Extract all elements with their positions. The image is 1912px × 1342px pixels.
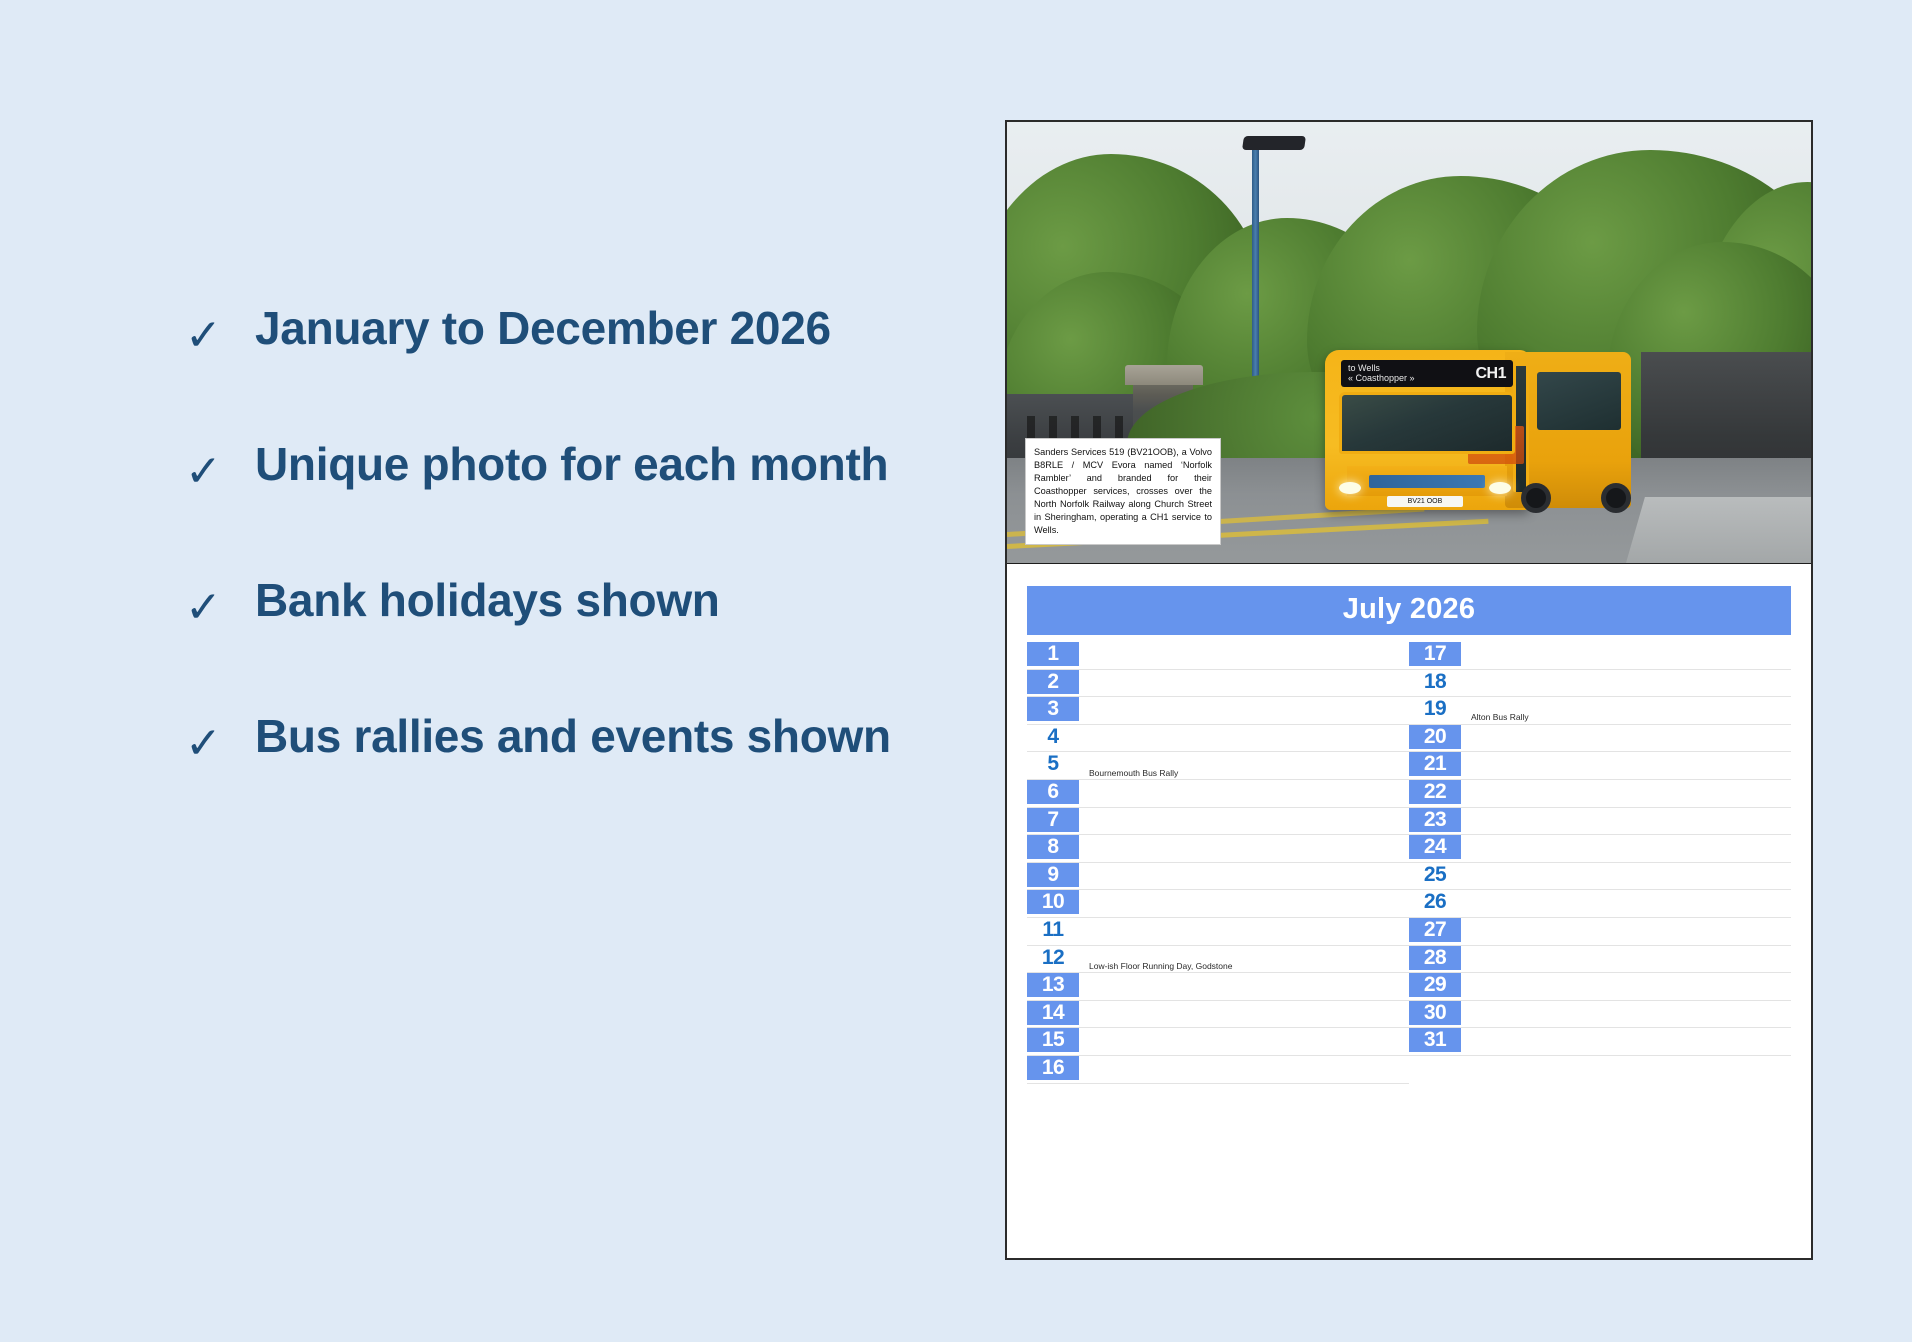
calendar-day-event (1461, 833, 1791, 834)
calendar-month-title: July 2026 (1027, 586, 1791, 635)
bus-headlight-left-icon (1339, 482, 1361, 494)
calendar-day-event (1461, 806, 1791, 807)
calendar-day-row[interactable]: 9 (1027, 863, 1409, 891)
calendar-day-event (1461, 1054, 1791, 1055)
calendar-day-event (1461, 916, 1791, 917)
calendar-day-number: 16 (1027, 1056, 1079, 1080)
calendar-day-row[interactable]: 14 (1027, 1001, 1409, 1029)
pavement-kerb (1626, 497, 1811, 563)
calendar-day-event (1079, 833, 1409, 834)
calendar-day-number: 24 (1409, 835, 1461, 859)
feature-item-2: ✓ Bank holidays shown (185, 572, 905, 630)
calendar-day-row[interactable]: 25 (1409, 863, 1791, 891)
month-photo: to Wells « Coasthopper » CH1 BV21 OOB Sa… (1007, 122, 1811, 564)
calendar-day-row[interactable]: 31 (1409, 1028, 1791, 1056)
calendar-day-number: 8 (1027, 835, 1079, 859)
calendar-day-row[interactable]: 17 (1409, 642, 1791, 670)
calendar-day-number: 22 (1409, 780, 1461, 804)
calendar-day-row[interactable]: 10 (1027, 890, 1409, 918)
calendar-day-number: 28 (1409, 946, 1461, 970)
calendar-day-row[interactable]: 28 (1409, 946, 1791, 974)
calendar-day-number: 21 (1409, 752, 1461, 776)
calendar-day-number: 7 (1027, 808, 1079, 832)
feature-label-1: Unique photo for each month (255, 436, 905, 492)
calendar-day-row[interactable]: 16 (1027, 1056, 1409, 1084)
calendar-day-event (1079, 944, 1409, 945)
calendar-day-row[interactable]: 24 (1409, 835, 1791, 863)
calendar-day-number: 27 (1409, 918, 1461, 942)
calendar-day-event (1079, 1026, 1409, 1027)
calendar-day-number: 12 (1027, 946, 1079, 970)
calendar-day-row[interactable]: 18 (1409, 670, 1791, 698)
bus-operator-logo (1369, 475, 1485, 488)
calendar-day-event (1079, 861, 1409, 862)
calendar-day-event (1079, 888, 1409, 889)
calendar-day-number: 29 (1409, 973, 1461, 997)
bus-windscreen (1339, 392, 1515, 454)
calendar-day-row[interactable]: 30 (1409, 1001, 1791, 1029)
calendar-day-number: 1 (1027, 642, 1079, 666)
feature-item-1: ✓ Unique photo for each month (185, 436, 905, 494)
calendar-day-event (1461, 695, 1791, 696)
calendar-day-row[interactable]: 2 (1027, 670, 1409, 698)
calendar-day-row[interactable]: 12Low-ish Floor Running Day, Godstone (1027, 946, 1409, 974)
bus-route-number: CH1 (1475, 365, 1506, 383)
bus-vehicle: to Wells « Coasthopper » CH1 BV21 OOB (1325, 350, 1530, 510)
calendar-day-number: 13 (1027, 973, 1079, 997)
bus-side-window (1537, 372, 1621, 430)
calendar-day-event (1079, 916, 1409, 917)
calendar-day-row[interactable]: 26 (1409, 890, 1791, 918)
feature-label-3: Bus rallies and events shown (255, 708, 905, 764)
calendar-day-row[interactable]: 15 (1027, 1028, 1409, 1056)
feature-list: ✓ January to December 2026 ✓ Unique phot… (185, 300, 905, 844)
calendar-day-event (1079, 1054, 1409, 1055)
calendar-day-row[interactable]: 21 (1409, 752, 1791, 780)
calendar-day-number: 6 (1027, 780, 1079, 804)
calendar-day-event (1079, 999, 1409, 1000)
bus-destination-line2: « Coasthopper » (1348, 374, 1415, 383)
calendar-day-event: Alton Bus Rally (1461, 713, 1791, 723)
calendar-day-number: 11 (1027, 918, 1079, 942)
calendar-day-event: Low-ish Floor Running Day, Godstone (1079, 962, 1409, 972)
calendar-day-number: 5 (1027, 752, 1079, 776)
calendar-day-event (1461, 888, 1791, 889)
calendar-day-row[interactable]: 8 (1027, 835, 1409, 863)
calendar-day-number: 3 (1027, 697, 1079, 721)
bus-wheel (1521, 483, 1551, 513)
bridge-pillar-cap (1125, 365, 1203, 385)
calendar-day-number: 25 (1409, 863, 1461, 887)
calendar-day-row[interactable]: 7 (1027, 808, 1409, 836)
calendar-day-number: 23 (1409, 808, 1461, 832)
calendar-day-row[interactable]: 20 (1409, 725, 1791, 753)
bus-headlight-right-icon (1489, 482, 1511, 494)
calendar-day-number: 14 (1027, 1001, 1079, 1025)
calendar-day-event (1461, 668, 1791, 669)
calendar-day-number: 4 (1027, 725, 1079, 749)
calendar-day-row[interactable]: 22 (1409, 780, 1791, 808)
calendar-grid: July 2026 12345Bournemouth Bus Rally6789… (1007, 564, 1811, 1258)
photo-caption: Sanders Services 519 (BV21OOB), a Volvo … (1025, 438, 1221, 545)
calendar-left-column: 12345Bournemouth Bus Rally6789101112Low-… (1027, 642, 1409, 1244)
calendar-day-number: 2 (1027, 670, 1079, 694)
feature-label-0: January to December 2026 (255, 300, 905, 356)
calendar-day-event (1079, 806, 1409, 807)
feature-label-2: Bank holidays shown (255, 572, 905, 628)
bus-destination-display: to Wells « Coasthopper » CH1 (1341, 360, 1513, 387)
calendar-day-event (1461, 1026, 1791, 1027)
calendar-day-number: 31 (1409, 1028, 1461, 1052)
calendar-day-row[interactable]: 23 (1409, 808, 1791, 836)
calendar-day-row[interactable]: 3 (1027, 697, 1409, 725)
calendar-day-event (1461, 971, 1791, 972)
street-lamp-head-icon (1242, 136, 1306, 150)
calendar-day-event (1079, 668, 1409, 669)
calendar-day-number: 15 (1027, 1028, 1079, 1052)
calendar-day-event (1079, 723, 1409, 724)
calendar-day-number: 17 (1409, 642, 1461, 666)
calendar-day-number: 18 (1409, 670, 1461, 694)
calendar-day-row[interactable]: 27 (1409, 918, 1791, 946)
calendar-day-event (1079, 1082, 1409, 1083)
calendar-day-row[interactable]: 19Alton Bus Rally (1409, 697, 1791, 725)
calendar-day-event (1079, 750, 1409, 751)
bus-wheel (1601, 483, 1631, 513)
calendar-day-row[interactable]: 1 (1027, 642, 1409, 670)
calendar-day-event: Bournemouth Bus Rally (1079, 769, 1409, 779)
calendar-day-event (1461, 944, 1791, 945)
calendar-day-row[interactable]: 5Bournemouth Bus Rally (1027, 752, 1409, 780)
calendar-day-row[interactable]: 6 (1027, 780, 1409, 808)
feature-item-3: ✓ Bus rallies and events shown (185, 708, 905, 766)
calendar-day-event (1461, 999, 1791, 1000)
calendar-right-column: 171819Alton Bus Rally2021222324252627282… (1409, 642, 1791, 1244)
calendar-day-row[interactable]: 11 (1027, 918, 1409, 946)
calendar-day-number: 9 (1027, 863, 1079, 887)
calendar-day-row[interactable]: 29 (1409, 973, 1791, 1001)
calendar-day-row[interactable]: 13 (1027, 973, 1409, 1001)
calendar-day-event (1461, 861, 1791, 862)
calendar-day-number: 10 (1027, 890, 1079, 914)
calendar-day-number: 19 (1409, 697, 1461, 721)
calendar-day-event (1461, 778, 1791, 779)
feature-item-0: ✓ January to December 2026 (185, 300, 905, 358)
calendar-day-number: 26 (1409, 890, 1461, 914)
calendar-day-number: 30 (1409, 1001, 1461, 1025)
bus-number-plate: BV21 OOB (1387, 496, 1463, 507)
calendar-day-row[interactable]: 4 (1027, 725, 1409, 753)
calendar-day-number: 20 (1409, 725, 1461, 749)
calendar-page-preview: to Wells « Coasthopper » CH1 BV21 OOB Sa… (1005, 120, 1813, 1260)
calendar-day-event (1461, 750, 1791, 751)
calendar-day-event (1079, 695, 1409, 696)
